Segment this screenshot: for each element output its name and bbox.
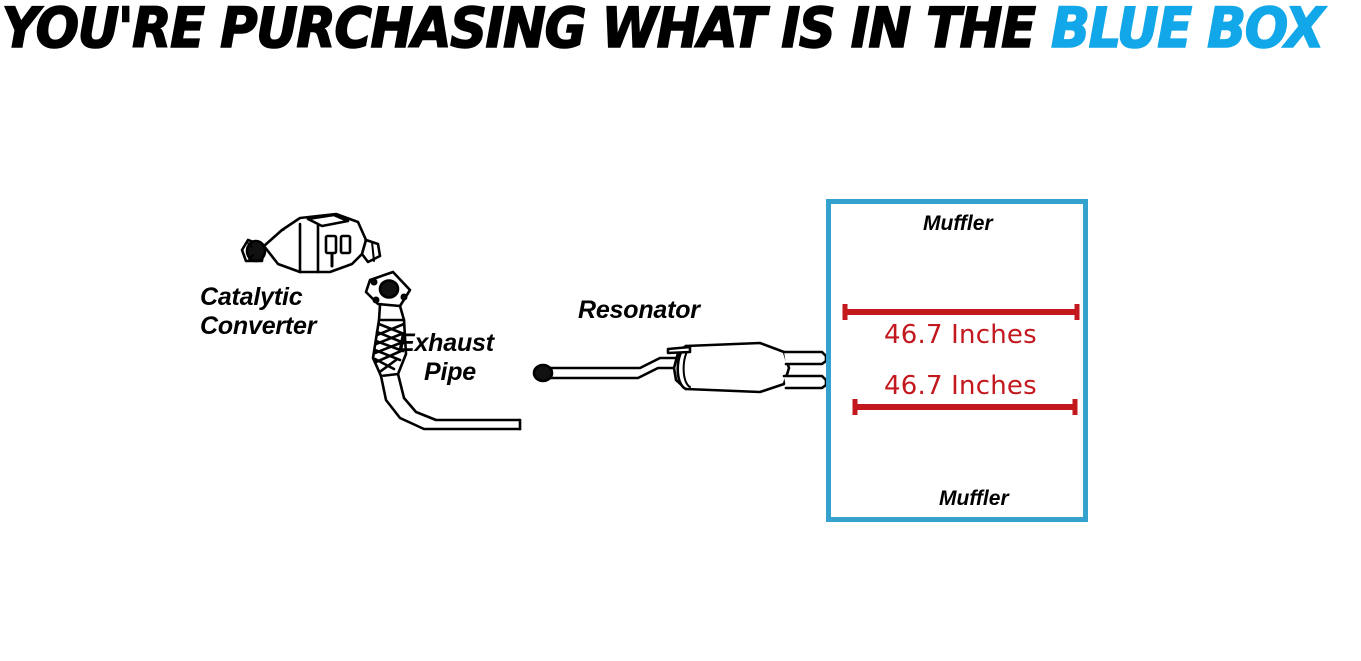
banner-text-group: YOU'RE PURCHASING WHAT IS IN THE BLUE BO…: [0, 0, 1323, 56]
label-exhaust-pipe: Exhaust Pipe: [398, 300, 494, 416]
label-exhaust-pipe-line2: Pipe: [398, 358, 494, 387]
header-banner: YOU'RE PURCHASING WHAT IS IN THE BLUE BO…: [0, 0, 1361, 58]
dimension-rule-bottom: [852, 398, 1078, 416]
diagram-canvas: YOU'RE PURCHASING WHAT IS IN THE BLUE BO…: [0, 0, 1361, 661]
muffler-label-bottom: Muffler: [939, 487, 1009, 511]
banner-text-blue: BLUE BOX: [1051, 0, 1323, 58]
label-catalytic-converter: Catalytic Converter: [200, 283, 316, 341]
banner-text-dark: YOU'RE PURCHASING WHAT IS IN THE: [2, 0, 1051, 58]
resonator-icon: [534, 343, 826, 392]
blue-box-highlight: [826, 199, 1088, 522]
label-exhaust-pipe-line1: Exhaust: [398, 329, 494, 357]
label-resonator: Resonator: [578, 296, 700, 325]
dimension-rule-top: [842, 303, 1080, 321]
exhaust-system-svg: [0, 58, 1361, 661]
muffler-label-top: Muffler: [923, 212, 993, 236]
dimension-text-top: 46.7 Inches: [884, 320, 1037, 350]
dimension-text-bottom: 46.7 Inches: [884, 371, 1037, 401]
catalytic-converter-icon: [242, 214, 380, 272]
exhaust-system-illustration: [0, 58, 1361, 661]
